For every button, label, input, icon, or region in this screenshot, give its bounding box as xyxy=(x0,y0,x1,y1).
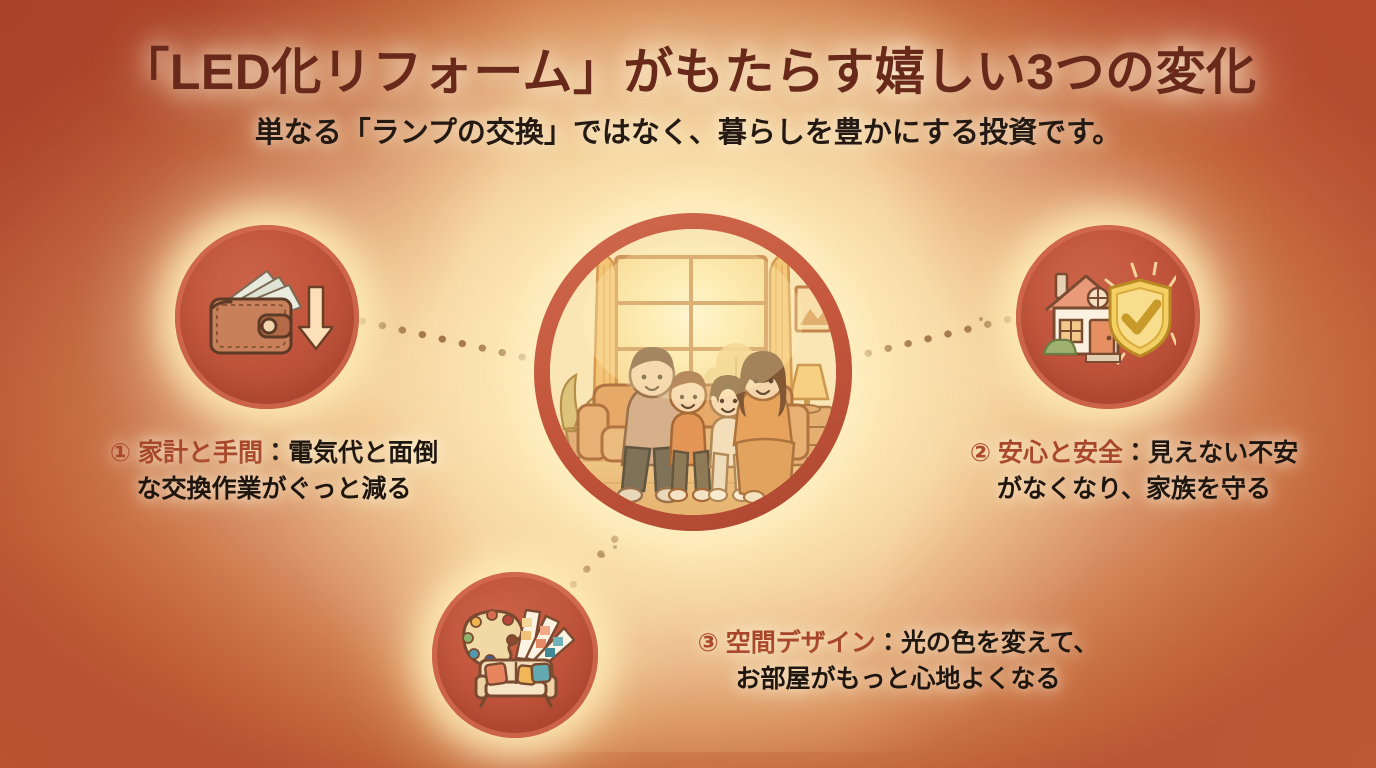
heading-block: 「LED化リフォーム」がもたらす嬉しい3つの変化 単なる「ランプの交換」ではなく… xyxy=(0,44,1376,151)
benefit-highlight-1: 家計と手間 xyxy=(138,439,263,467)
page-title: 「LED化リフォーム」がもたらす嬉しい3つの変化 xyxy=(0,44,1376,100)
connector-center-to-right xyxy=(848,318,1014,358)
benefit-badge-household[interactable] xyxy=(175,225,359,409)
family-living-room-illustration xyxy=(550,229,836,515)
benefit-number-3: ③ xyxy=(698,629,719,657)
benefit-line1-rest-2: 見えない不安 xyxy=(1148,439,1298,467)
connector-left-to-center xyxy=(362,321,540,361)
benefit-number-2: ② xyxy=(970,439,991,467)
benefit-separator-1: ： xyxy=(263,439,288,467)
benefit-number-1: ① xyxy=(110,439,131,467)
speck-decoration xyxy=(613,545,617,549)
caption-line-1: ③ 空間デザイン：光の色を変えて、 xyxy=(638,626,1158,662)
caption-line-2: がなくなり、家族を守る xyxy=(934,472,1334,508)
benefit-badge-design[interactable] xyxy=(432,572,598,738)
benefit-caption-design: ③ 空間デザイン：光の色を変えて、 お部屋がもっと心地よくなる xyxy=(638,626,1158,697)
speck-decoration xyxy=(600,553,605,558)
palette-swatches-sofa-icon xyxy=(454,600,576,710)
benefit-caption-safety: ② 安心と安全：見えない不安 がなくなり、家族を守る xyxy=(934,436,1334,507)
wallet-with-cash-down-arrow-icon xyxy=(201,265,333,369)
caption-line-1: ② 安心と安全：見えない不安 xyxy=(934,436,1334,472)
infographic-poster: 「LED化リフォーム」がもたらす嬉しい3つの変化 単なる「ランプの交換」ではなく… xyxy=(0,0,1376,768)
benefit-line1-rest-3: 光の色を変えて、 xyxy=(901,629,1099,657)
page-subtitle: 単なる「ランプの交換」ではなく、暮らしを豊かにする投資です。 xyxy=(0,116,1376,151)
caption-line-2: お部屋がもっと心地よくなる xyxy=(638,662,1158,698)
benefit-caption-household: ① 家計と手間：電気代と面倒 な交換作業がぐっと減る xyxy=(74,436,474,507)
speck-decoration xyxy=(979,317,983,321)
caption-line-2: な交換作業がぐっと減る xyxy=(74,472,474,508)
benefit-highlight-2: 安心と安全 xyxy=(998,439,1123,467)
benefit-highlight-3: 空間デザイン xyxy=(726,629,876,657)
benefit-line1-rest-1: 電気代と面倒 xyxy=(288,439,438,467)
benefit-separator-3: ： xyxy=(876,629,901,657)
caption-line-1: ① 家計と手間：電気代と面倒 xyxy=(74,436,474,472)
benefit-separator-2: ： xyxy=(1123,439,1148,467)
house-with-shield-check-icon xyxy=(1040,262,1176,372)
hero-image-circle xyxy=(534,213,852,531)
benefit-badge-safety[interactable] xyxy=(1016,225,1200,409)
